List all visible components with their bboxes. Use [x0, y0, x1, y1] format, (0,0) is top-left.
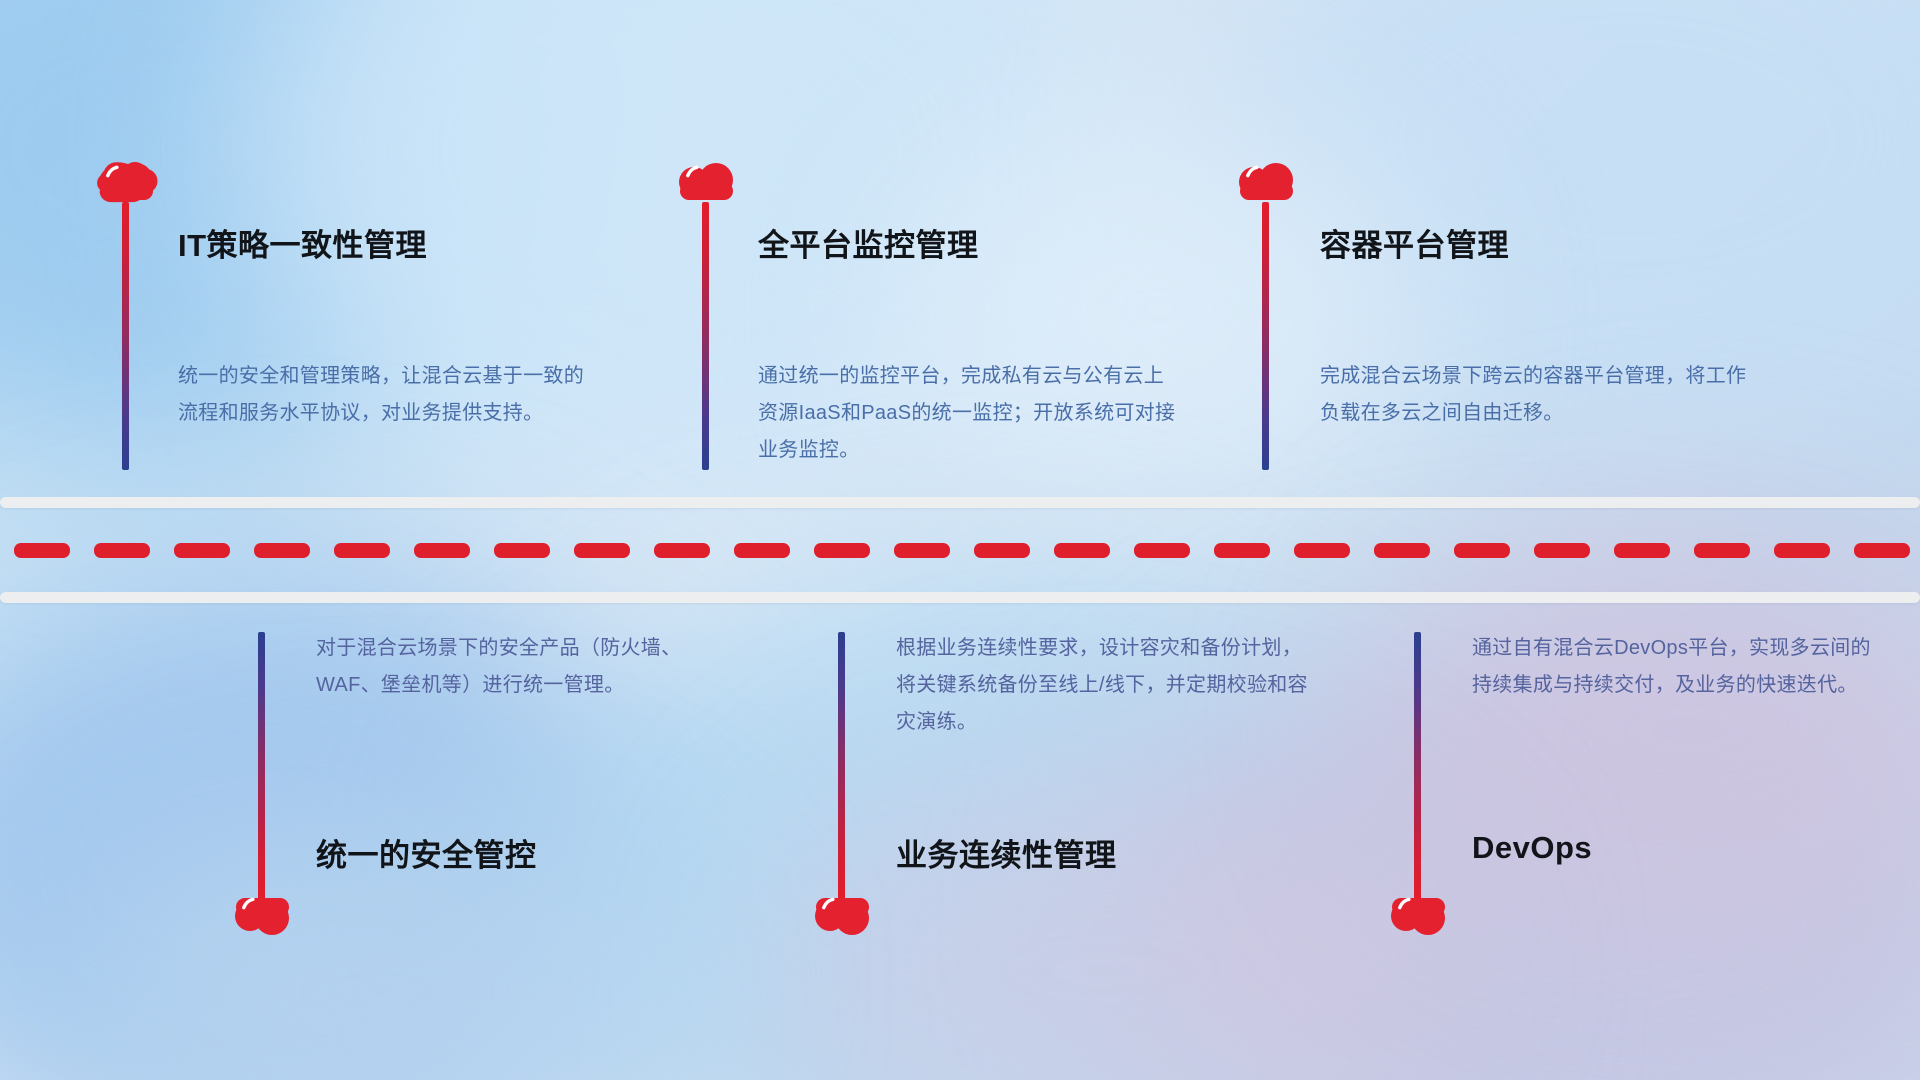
cloud-icon — [1388, 890, 1450, 940]
road-line-top — [0, 497, 1920, 508]
card-heading: 统一的安全管控 — [316, 830, 537, 875]
card-body: 完成混合云场景下跨云的容器平台管理，将工作负载在多云之间自由迁移。 — [1320, 358, 1750, 432]
card-body: 统一的安全和管理策略，让混合云基于一致的流程和服务水平协议，对业务提供支持。 — [178, 358, 598, 432]
road-dash — [494, 543, 550, 558]
cloud-icon — [232, 890, 294, 940]
road-dash — [974, 543, 1030, 558]
road-dash — [1854, 543, 1910, 558]
pin-stem — [1262, 202, 1269, 470]
road-dash — [1534, 543, 1590, 558]
road-dash — [1054, 543, 1110, 558]
road-dash — [1774, 543, 1830, 558]
road-dashed-line — [0, 542, 1920, 558]
road-line-bottom — [0, 592, 1920, 603]
cloud-icon — [812, 890, 874, 940]
card-heading: 业务连续性管理 — [896, 830, 1117, 875]
road-dash — [894, 543, 950, 558]
road-dash — [814, 543, 870, 558]
card-heading: 容器平台管理 — [1320, 220, 1509, 265]
cloud-icon — [96, 158, 158, 208]
card-heading: DevOps — [1472, 830, 1592, 866]
road-dash — [414, 543, 470, 558]
pin-stem — [702, 202, 709, 470]
road-dash — [1614, 543, 1670, 558]
road-dash — [94, 543, 150, 558]
card-heading: 全平台监控管理 — [758, 220, 979, 265]
road-dash — [1134, 543, 1190, 558]
road-dash — [14, 543, 70, 558]
card-heading: IT策略一致性管理 — [178, 220, 427, 265]
road-dash — [1294, 543, 1350, 558]
cloud-icon — [676, 158, 738, 208]
card-body: 对于混合云场景下的安全产品（防火墙、WAF、堡垒机等）进行统一管理。 — [316, 630, 736, 704]
cloud-icon — [1236, 158, 1298, 208]
card-body: 根据业务连续性要求，设计容灾和备份计划，将关键系统备份至线上/线下，并定期校验和… — [896, 630, 1316, 741]
pin-stem — [1414, 632, 1421, 900]
pin-stem — [258, 632, 265, 900]
infographic-canvas: IT策略一致性管理 统一的安全和管理策略，让混合云基于一致的流程和服务水平协议，… — [0, 0, 1920, 1080]
road-dash — [1454, 543, 1510, 558]
road-dash — [1374, 543, 1430, 558]
background-blob — [1380, 520, 1920, 940]
road-dash — [654, 543, 710, 558]
road-dash — [574, 543, 630, 558]
road-dash — [334, 543, 390, 558]
road-dash — [1694, 543, 1750, 558]
road-dash — [254, 543, 310, 558]
card-body: 通过统一的监控平台，完成私有云与公有云上资源IaaS和PaaS的统一监控；开放系… — [758, 358, 1178, 469]
pin-stem — [838, 632, 845, 900]
road-dash — [1214, 543, 1270, 558]
pin-stem — [122, 202, 129, 470]
road-dash — [174, 543, 230, 558]
card-body: 通过自有混合云DevOps平台，实现多云间的持续集成与持续交付，及业务的快速迭代… — [1472, 630, 1872, 704]
road-dash — [734, 543, 790, 558]
